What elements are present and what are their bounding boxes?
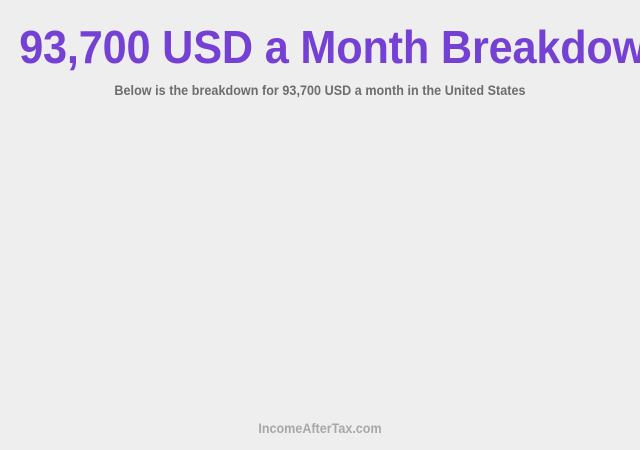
- page-title: 93,700 USD a Month Breakdown: [19, 0, 621, 72]
- page-subtitle: Below is the breakdown for 93,700 USD a …: [22, 72, 617, 99]
- header: 93,700 USD a Month Breakdown Below is th…: [0, 0, 640, 99]
- content-area: [0, 118, 640, 410]
- site-watermark: IncomeAfterTax.com: [22, 421, 617, 437]
- page-root: 93,700 USD a Month Breakdown Below is th…: [0, 0, 640, 450]
